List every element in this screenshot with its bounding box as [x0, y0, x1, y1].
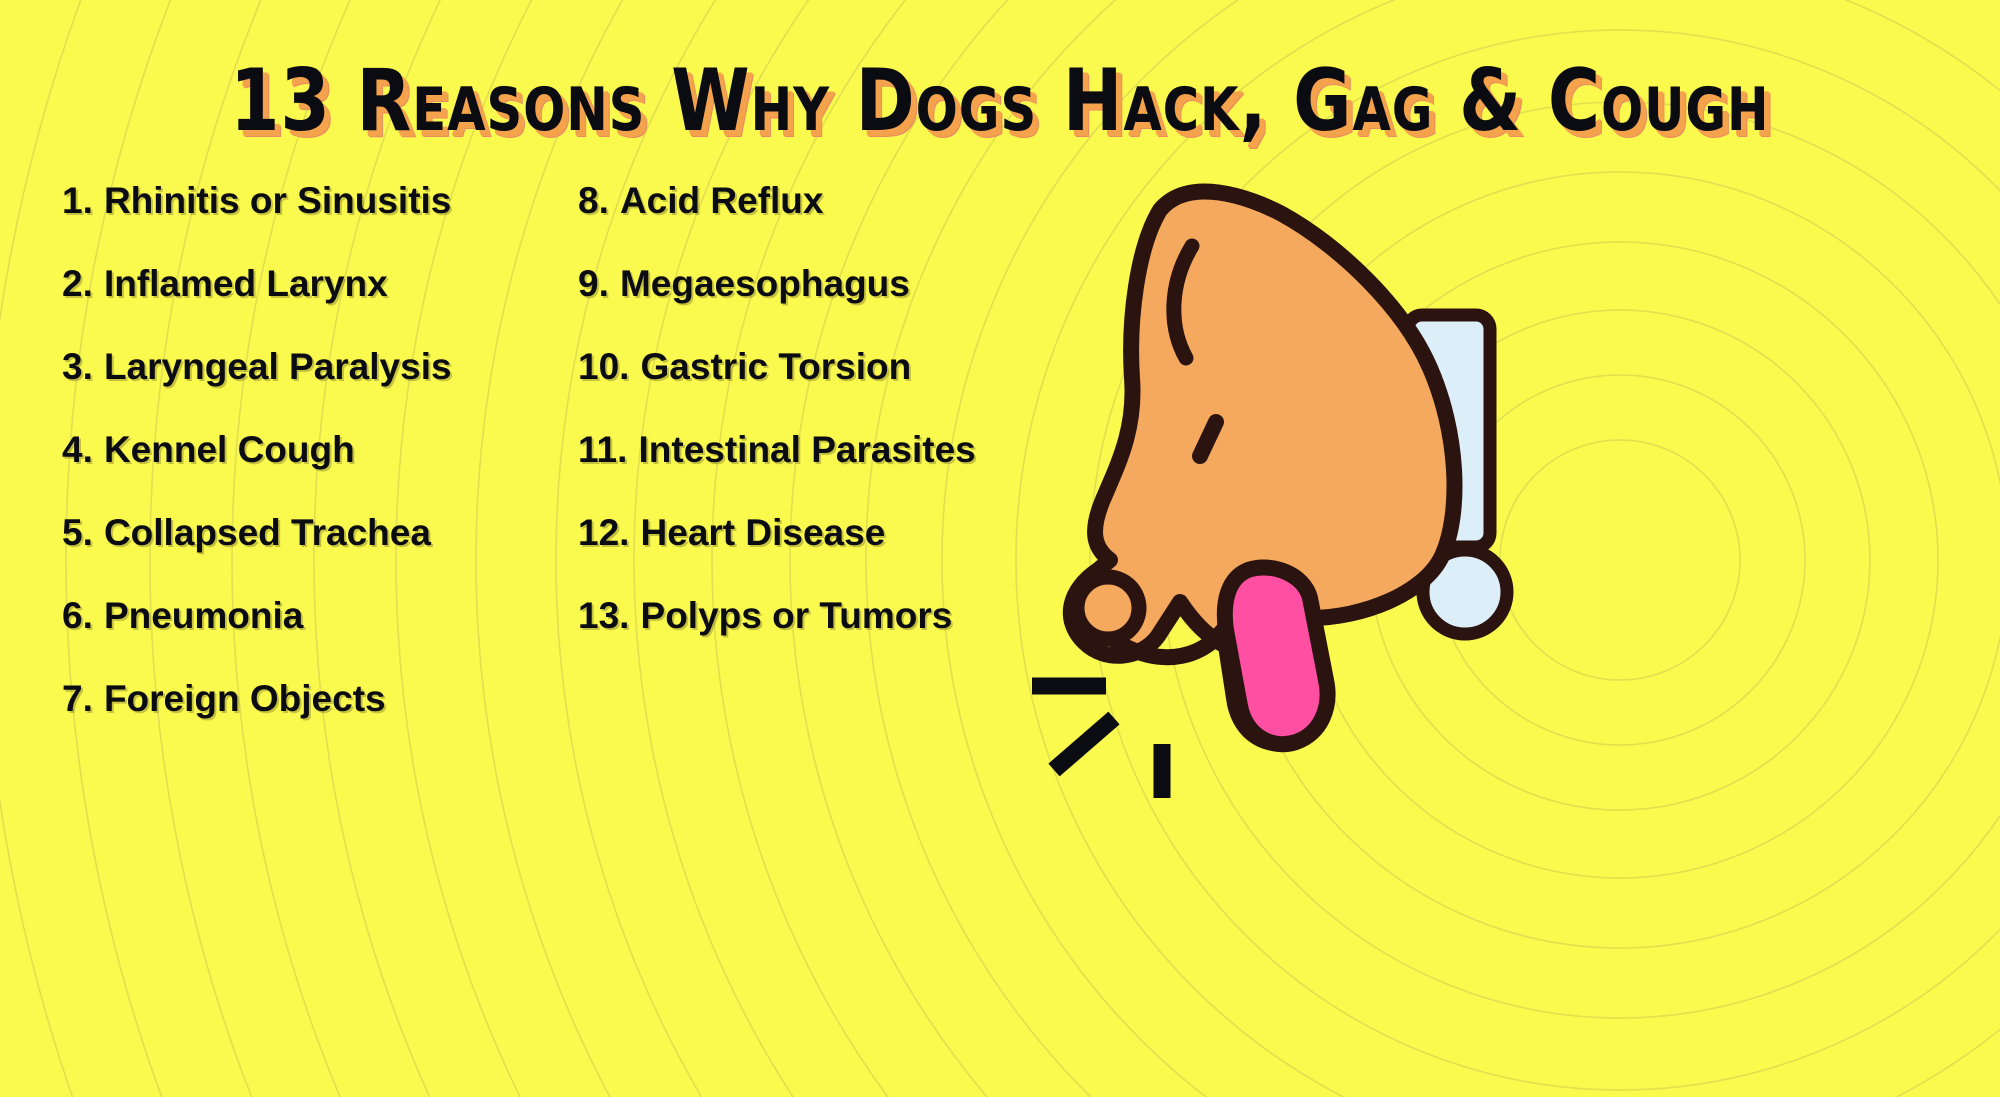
- list-item: 12.Heart Disease: [578, 514, 1098, 551]
- list-item: 10.Gastric Torsion: [578, 348, 1098, 385]
- list-item-number: 8.: [578, 180, 609, 221]
- list-item-label: Foreign Objects: [104, 678, 386, 719]
- list-item: 7.Foreign Objects: [62, 680, 602, 717]
- list-item-number: 11.: [578, 429, 627, 470]
- reasons-column-left: 1.Rhinitis or Sinusitis 2.Inflamed Laryn…: [62, 182, 602, 763]
- list-item-number: 12.: [578, 512, 629, 553]
- list-item: 11.Intestinal Parasites: [578, 431, 1098, 468]
- list-item: 8.Acid Reflux: [578, 182, 1098, 219]
- list-item: 4.Kennel Cough: [62, 431, 602, 468]
- list-item: 1.Rhinitis or Sinusitis: [62, 182, 602, 219]
- list-item: 6.Pneumonia: [62, 597, 602, 634]
- list-item-number: 4.: [62, 429, 93, 470]
- dog-tongue-icon: [1225, 568, 1328, 745]
- list-item-label: Pneumonia: [104, 595, 303, 636]
- dog-eye-icon: [1200, 422, 1216, 456]
- list-item-number: 5.: [62, 512, 93, 553]
- page-title: 13 Reasons Why Dogs Hack, Gag & Cough: [230, 58, 1770, 144]
- list-item-label: Inflamed Larynx: [104, 263, 388, 304]
- list-item-number: 9.: [578, 263, 609, 304]
- list-item-label: Polyps or Tumors: [641, 595, 953, 636]
- list-item-label: Heart Disease: [641, 512, 886, 553]
- dog-head-shape: [1071, 192, 1455, 744]
- list-item-label: Acid Reflux: [620, 180, 824, 221]
- dog-collar-icon: [1408, 315, 1507, 634]
- reasons-column-right: 8.Acid Reflux 9.Megaesophagus 10.Gastric…: [578, 182, 1098, 680]
- list-item-label: Collapsed Trachea: [104, 512, 431, 553]
- list-item: 9.Megaesophagus: [578, 265, 1098, 302]
- dog-mouth-line: [1114, 616, 1232, 657]
- title-container: 13 Reasons Why Dogs Hack, Gag & Cough: [0, 58, 2000, 144]
- cough-motion-marks-icon: [1032, 686, 1162, 798]
- list-item: 5.Collapsed Trachea: [62, 514, 602, 551]
- list-item-number: 3.: [62, 346, 93, 387]
- list-item-label: Gastric Torsion: [641, 346, 912, 387]
- list-item-label: Kennel Cough: [104, 429, 355, 470]
- list-item-number: 13.: [578, 595, 629, 636]
- list-item: 13.Polyps or Tumors: [578, 597, 1098, 634]
- list-item-number: 7.: [62, 678, 93, 719]
- list-item-number: 1.: [62, 180, 93, 221]
- list-item-label: Megaesophagus: [620, 263, 910, 304]
- list-item-number: 10.: [578, 346, 629, 387]
- infographic-poster: 13 Reasons Why Dogs Hack, Gag & Cough 1.…: [0, 0, 2000, 1097]
- list-item-label: Laryngeal Paralysis: [104, 346, 452, 387]
- list-item: 2.Inflamed Larynx: [62, 265, 602, 302]
- list-item-label: Intestinal Parasites: [639, 429, 976, 470]
- list-item-label: Rhinitis or Sinusitis: [104, 180, 451, 221]
- list-item-number: 6.: [62, 595, 93, 636]
- list-item: 3.Laryngeal Paralysis: [62, 348, 602, 385]
- list-item-number: 2.: [62, 263, 93, 304]
- dog-inner-ear-line: [1174, 246, 1192, 358]
